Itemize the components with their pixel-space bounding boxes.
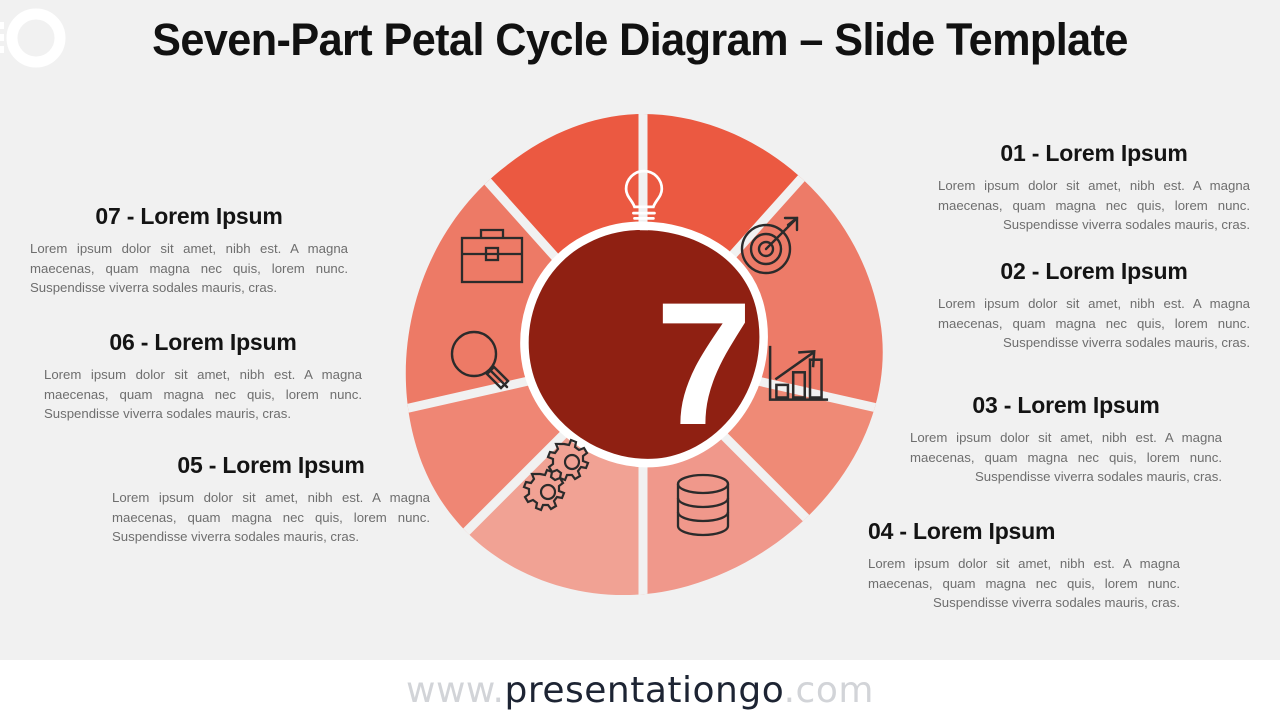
block-heading-05: 05 - Lorem Ipsum [112,452,430,479]
text-block-03: 03 - Lorem Ipsum Lorem ipsum dolor sit a… [910,392,1222,487]
block-body-01: Lorem ipsum dolor sit amet, nibh est. A … [938,176,1250,235]
block-body-07: Lorem ipsum dolor sit amet, nibh est. A … [30,239,348,298]
footer-bar: www.presentationgo.com [0,660,1280,720]
text-block-07: 07 - Lorem Ipsum Lorem ipsum dolor sit a… [30,203,348,298]
petal-cycle-diagram: 7 [388,100,898,610]
page-title: Seven-Part Petal Cycle Diagram – Slide T… [26,14,1255,66]
text-block-05: 05 - Lorem Ipsum Lorem ipsum dolor sit a… [112,452,430,547]
block-heading-01: 01 - Lorem Ipsum [938,140,1250,167]
block-heading-03: 03 - Lorem Ipsum [910,392,1222,419]
text-block-04: 04 - Lorem Ipsum Lorem ipsum dolor sit a… [868,518,1180,613]
block-body-05: Lorem ipsum dolor sit amet, nibh est. A … [112,488,430,547]
block-body-03: Lorem ipsum dolor sit amet, nibh est. A … [910,428,1222,487]
text-block-06: 06 - Lorem Ipsum Lorem ipsum dolor sit a… [44,329,362,424]
block-body-02: Lorem ipsum dolor sit amet, nibh est. A … [938,294,1250,353]
block-body-06: Lorem ipsum dolor sit amet, nibh est. A … [44,365,362,424]
block-heading-07: 07 - Lorem Ipsum [30,203,348,230]
slide-canvas: Seven-Part Petal Cycle Diagram – Slide T… [0,0,1280,660]
block-heading-02: 02 - Lorem Ipsum [938,258,1250,285]
block-heading-06: 06 - Lorem Ipsum [44,329,362,356]
block-body-04: Lorem ipsum dolor sit amet, nibh est. A … [868,554,1180,613]
footer-website-url: www.presentationgo.com [406,670,874,711]
footer-url-suffix: .com [784,670,874,711]
text-block-01: 01 - Lorem Ipsum Lorem ipsum dolor sit a… [938,140,1250,235]
block-heading-04: 04 - Lorem Ipsum [868,518,1180,545]
footer-url-brand: presentationgo [505,670,784,711]
text-block-02: 02 - Lorem Ipsum Lorem ipsum dolor sit a… [938,258,1250,353]
footer-url-prefix: www. [406,670,504,711]
center-number: 7 [655,267,752,462]
